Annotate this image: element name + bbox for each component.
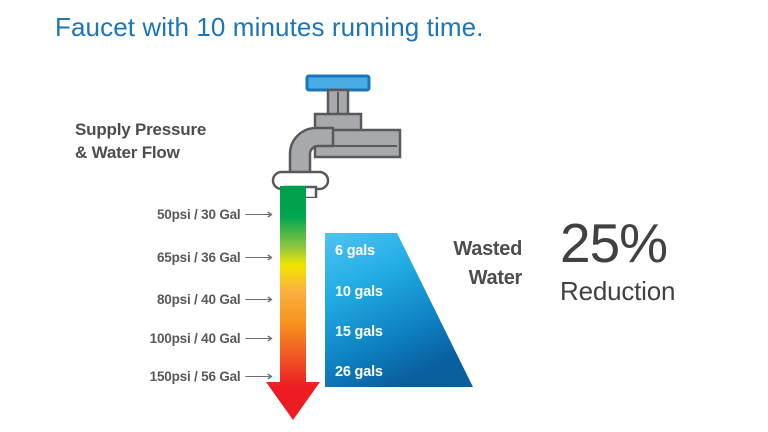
pressure-label: 50psi / 30 Gal (157, 207, 241, 222)
pressure-label: 150psi / 56 Gal (150, 369, 241, 384)
gals-label: 10 gals (335, 284, 383, 300)
gals-label: 26 gals (335, 364, 383, 380)
pressure-label: 65psi / 36 Gal (157, 250, 241, 265)
slide-canvas: Faucet with 10 minutes running time. Sup… (0, 0, 768, 432)
pressure-label: 100psi / 40 Gal (150, 331, 241, 346)
supply-pressure-heading: Supply Pressure & Water Flow (75, 118, 275, 164)
pressure-label: 80psi / 40 Gal (157, 292, 241, 307)
reduction-label: Reduction (560, 276, 750, 306)
gals-label: 15 gals (335, 324, 383, 340)
reduction-block: 25% Reduction (560, 214, 750, 306)
supply-heading-line2: & Water Flow (75, 141, 275, 164)
pressure-row: 100psi / 40 Gal ⟶ (60, 331, 270, 346)
faucet-handle-icon (307, 76, 369, 90)
wasted-water-caption: Wasted Water (400, 235, 522, 293)
page-title: Faucet with 10 minutes running time. (55, 12, 483, 43)
pressure-row: 80psi / 40 Gal ⟶ (60, 292, 270, 307)
gals-label: 6 gals (335, 243, 375, 259)
pressure-row: 65psi / 36 Gal ⟶ (60, 250, 270, 265)
supply-heading-line1: Supply Pressure (75, 118, 275, 141)
wasted-caption-line1: Wasted (400, 235, 522, 264)
reduction-value: 25% (560, 214, 750, 272)
pressure-row: 150psi / 56 Gal ⟶ (60, 369, 270, 384)
down-arrow-gradient-icon (258, 186, 328, 426)
pressure-row: 50psi / 30 Gal ⟶ (60, 207, 270, 222)
wasted-caption-line2: Water (400, 264, 522, 293)
faucet-icon (255, 68, 415, 198)
